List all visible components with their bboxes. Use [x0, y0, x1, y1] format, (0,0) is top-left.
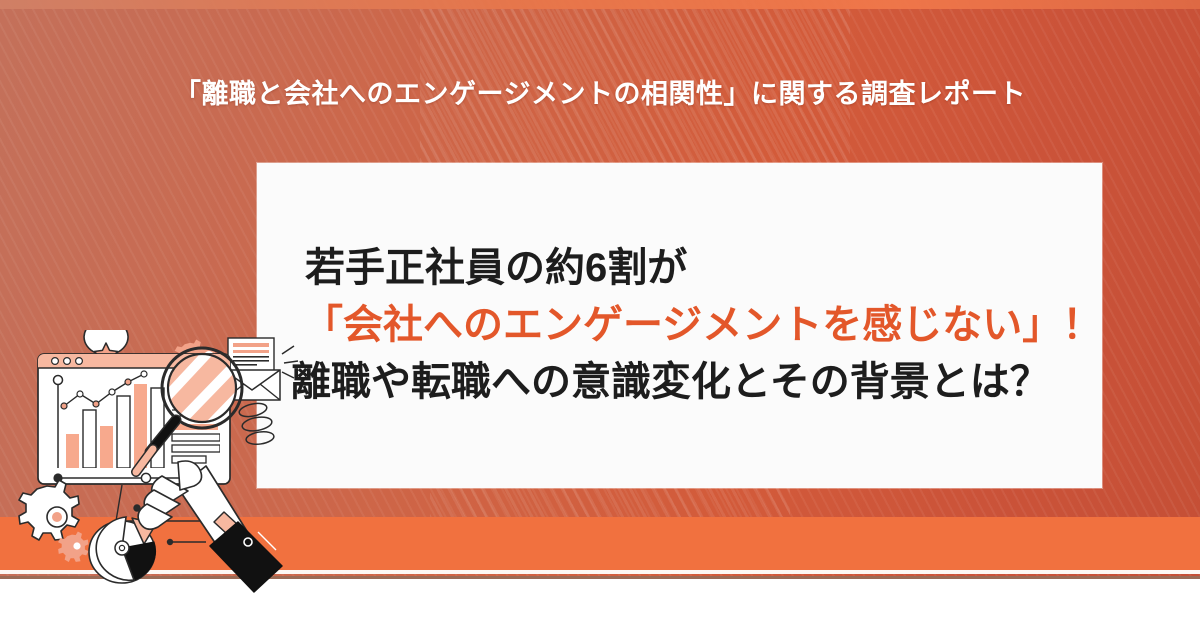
data-analysis-illustration — [10, 330, 310, 620]
page-title: 「離職と会社へのエンゲージメントの相関性」に関する調査レポート — [0, 78, 1200, 110]
headline-line-2-highlight: 「会社へのエンゲージメントを感じない」！ — [283, 297, 1076, 354]
headline-line-1: 若手正社員の約6割が — [283, 240, 1076, 297]
spring-squiggle-icon — [238, 401, 275, 446]
hand-icon — [138, 461, 282, 592]
headline-line-3: 離職や転職への意識変化とその背景とは？ — [283, 354, 1076, 411]
report-banner: 「離職と会社へのエンゲージメントの相関性」に関する調査レポート 若手正社員の約6… — [0, 0, 1200, 630]
top-sheen-strip — [0, 0, 1200, 9]
headline-card: 若手正社員の約6割が 「会社へのエンゲージメントを感じない」！ 離職や転職への意… — [257, 163, 1102, 488]
headline-card-content: 若手正社員の約6割が 「会社へのエンゲージメントを感じない」！ 離職や転職への意… — [257, 163, 1102, 488]
gear-large-icon — [19, 480, 79, 540]
